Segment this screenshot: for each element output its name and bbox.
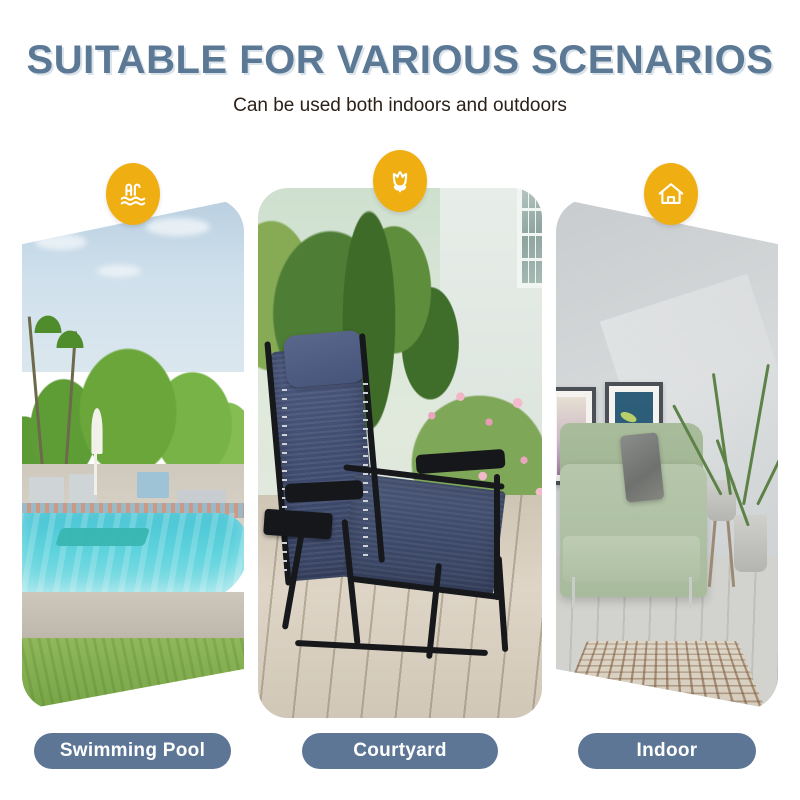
badge-swimming-pool xyxy=(106,163,160,225)
lounge-chair xyxy=(29,477,65,505)
pool-float xyxy=(55,528,150,546)
chair-armrest xyxy=(415,449,505,474)
pool-ladder-icon xyxy=(118,179,148,209)
tulip-flower-icon xyxy=(385,166,415,196)
chair-leg xyxy=(496,556,509,653)
umbrella-pole xyxy=(94,423,97,495)
scene-card-courtyard xyxy=(258,188,542,718)
courtyard-scene-illustration xyxy=(258,188,542,718)
label-text: Courtyard xyxy=(353,740,447,762)
scene-card-indoor xyxy=(556,198,778,710)
potted-plant xyxy=(734,515,767,571)
sofa-leg xyxy=(572,577,575,608)
zero-gravity-recliner-chair xyxy=(269,326,530,697)
lounge-chair xyxy=(69,474,98,502)
lawn-grass xyxy=(22,638,244,710)
scene-image-indoor xyxy=(556,198,778,710)
cloud-icon xyxy=(35,234,87,250)
leaf-shape xyxy=(619,410,638,424)
cloud-icon xyxy=(97,265,141,277)
throw-pillow xyxy=(619,432,663,502)
badge-indoor xyxy=(644,163,698,225)
sofa-seat-cushion xyxy=(563,536,701,582)
label-text: Swimming Pool xyxy=(60,740,205,762)
label-swimming-pool[interactable]: Swimming Pool xyxy=(34,733,231,769)
product-scenario-banner: SUITABLE FOR VARIOUS SCENARIOS Can be us… xyxy=(0,0,800,800)
scene-card-swimming-pool xyxy=(22,198,244,710)
house-icon xyxy=(656,179,686,209)
pool-water xyxy=(22,513,244,600)
chair-bungee-cord xyxy=(282,385,287,571)
scene-image-swimming-pool xyxy=(22,198,244,710)
chair-base-rail xyxy=(295,640,488,656)
label-text: Indoor xyxy=(637,740,698,762)
chair-headrest-pillow xyxy=(283,330,366,389)
house-window xyxy=(517,188,542,288)
lounge-chair xyxy=(137,472,168,498)
sofa-leg xyxy=(689,577,692,608)
chair-armrest xyxy=(285,480,364,503)
chair-bungee-cord xyxy=(363,378,368,556)
badge-courtyard xyxy=(373,150,427,212)
label-courtyard[interactable]: Courtyard xyxy=(302,733,498,769)
indoor-scene-illustration xyxy=(556,198,778,710)
scenario-panels xyxy=(0,0,800,800)
label-indoor[interactable]: Indoor xyxy=(578,733,756,769)
palm-fronds xyxy=(53,326,87,348)
